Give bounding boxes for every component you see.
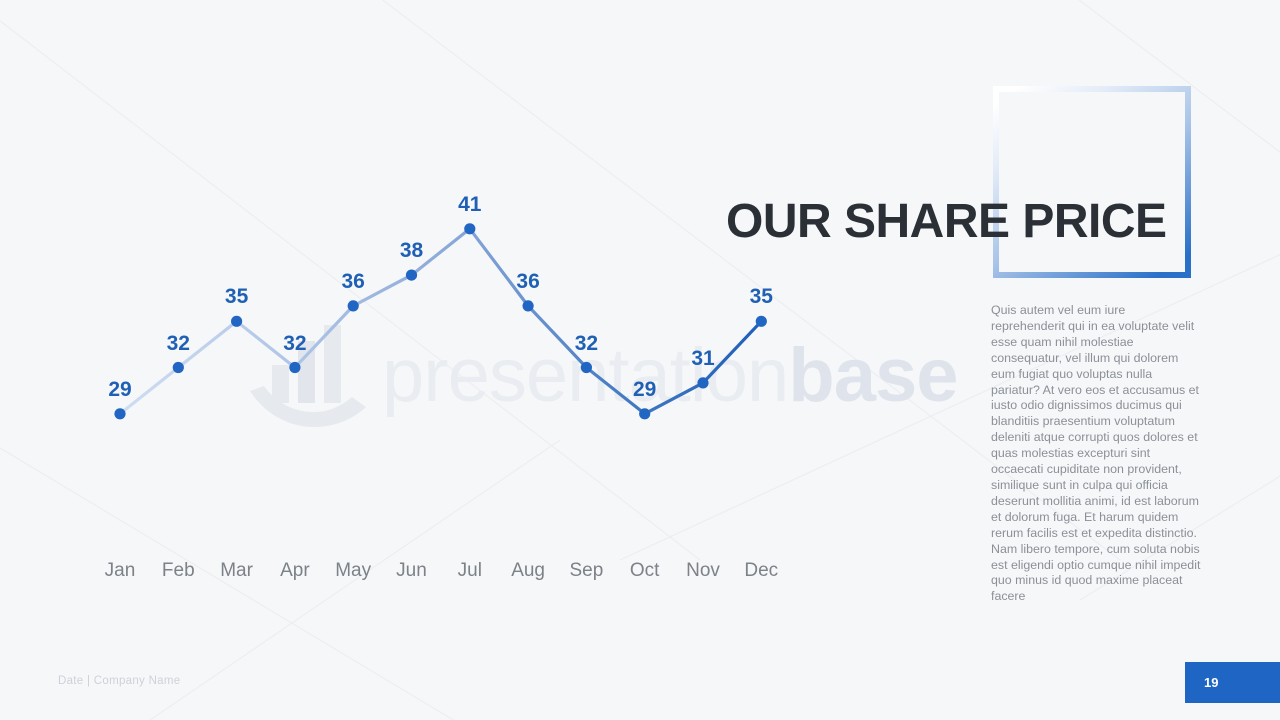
body-paragraph: Quis autem vel eum iure reprehenderit qu… (991, 303, 1201, 605)
chart-point-mar (231, 316, 242, 327)
chart-value-label-aug: 36 (516, 270, 539, 294)
chart-x-tick-sep: Sep (569, 560, 603, 582)
chart-value-label-apr: 32 (283, 332, 306, 356)
chart-x-tick-apr: Apr (280, 560, 310, 582)
chart-point-aug (523, 300, 534, 311)
chart-point-apr (289, 362, 300, 373)
page-title: OUR SHARE PRICE (726, 194, 1167, 249)
chart-x-tick-feb: Feb (162, 560, 195, 582)
chart-point-may (348, 300, 359, 311)
chart-value-label-feb: 32 (167, 332, 190, 356)
chart-x-tick-mar: Mar (220, 560, 253, 582)
chart-value-label-oct: 29 (633, 378, 656, 402)
chart-point-feb (173, 362, 184, 373)
slide-canvas: presentationbase 29323532363841363229313… (0, 0, 1280, 720)
chart-point-jun (406, 270, 417, 281)
footer-text: Date | Company Name (58, 675, 180, 687)
chart-x-tick-oct: Oct (630, 560, 660, 582)
chart-line-series (120, 229, 761, 414)
chart-x-axis-labels: JanFebMarAprMayJunJulAugSepOctNovDec (0, 560, 860, 592)
chart-x-tick-nov: Nov (686, 560, 720, 582)
chart-x-tick-jan: Jan (105, 560, 136, 582)
title-decorative-frame (993, 86, 1191, 278)
chart-value-label-dec: 35 (750, 285, 773, 309)
chart-x-tick-jun: Jun (396, 560, 427, 582)
chart-point-jan (114, 408, 125, 419)
chart-value-label-jun: 38 (400, 239, 423, 263)
chart-x-tick-may: May (335, 560, 371, 582)
chart-value-label-mar: 35 (225, 285, 248, 309)
share-price-line-chart: 293235323638413632293135 JanFebMarAprMay… (0, 0, 860, 620)
chart-point-dec (756, 316, 767, 327)
chart-point-nov (697, 377, 708, 388)
page-number-badge: 19 (1185, 662, 1280, 703)
chart-point-jul (464, 223, 475, 234)
chart-value-label-sep: 32 (575, 332, 598, 356)
chart-x-tick-aug: Aug (511, 560, 545, 582)
chart-value-label-may: 36 (342, 270, 365, 294)
chart-plot-area (0, 0, 860, 620)
chart-x-tick-jul: Jul (458, 560, 482, 582)
chart-x-tick-dec: Dec (744, 560, 778, 582)
chart-point-sep (581, 362, 592, 373)
chart-value-label-jan: 29 (108, 378, 131, 402)
chart-value-label-nov: 31 (691, 347, 714, 371)
chart-value-label-jul: 41 (458, 193, 481, 217)
chart-point-oct (639, 408, 650, 419)
